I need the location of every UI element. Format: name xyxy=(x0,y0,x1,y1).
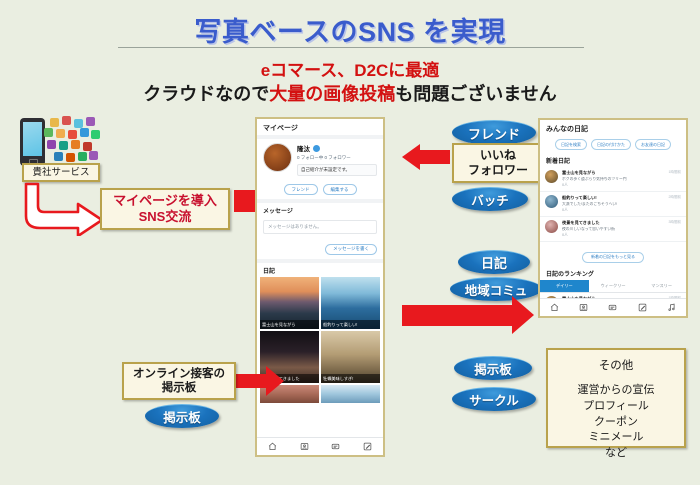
message-section-heading: メッセージ xyxy=(257,203,383,217)
tab-weekly[interactable]: ウィークリー xyxy=(589,280,638,292)
mypage-phone-mockup: マイページ 隆汰 0 フォロー中 0 フォロワー 自己紹介が未設定です。 フレン… xyxy=(255,117,385,457)
other-item: ミニメール xyxy=(548,430,684,446)
arrow-right-to-diary xyxy=(402,305,512,326)
list-item[interactable]: 夜景を見てきました夜の川しいなって思いやすい街0人 3時間前 xyxy=(540,217,686,242)
message-icon[interactable] xyxy=(608,303,617,312)
photo-cell[interactable] xyxy=(321,385,380,403)
callout-badge: バッチ xyxy=(452,187,528,211)
hook-arrow-icon xyxy=(22,182,108,236)
subtitle-primary: eコマース、D2Cに最適 xyxy=(0,56,700,81)
profile-name-row: 隆汰 xyxy=(297,143,377,153)
bottom-nav-bar xyxy=(540,298,686,316)
compose-icon[interactable] xyxy=(638,303,647,312)
likes-line2: フォロワー xyxy=(468,163,528,177)
subtitle-part-1: クラウドなので xyxy=(143,84,269,104)
mypage-intro-line2: SNS交流 xyxy=(139,209,192,224)
photo-caption: 富士山を見ながら xyxy=(260,320,319,329)
filter-pill[interactable]: お友達の日記 xyxy=(635,139,671,150)
ranking-heading: 日記のランキング xyxy=(540,266,686,280)
more-diary-row: 新着の日記をもっと見る xyxy=(540,242,686,266)
callout-bbs-left: 掲示板 xyxy=(145,404,219,428)
other-item: など xyxy=(548,446,684,462)
photo-cell[interactable]: 牡蠣美味しすぎ! xyxy=(321,331,380,383)
online-bbs-box: オンライン接客の掲示板 xyxy=(122,362,236,400)
person-icon[interactable] xyxy=(579,303,588,312)
tab-monthly[interactable]: マンスリー xyxy=(637,280,686,292)
likes-line1: いいね xyxy=(480,148,516,162)
bottom-nav-bar xyxy=(257,437,383,455)
arrow-left-to-bbs xyxy=(236,374,266,388)
tab-daily[interactable]: デイリー xyxy=(540,280,589,292)
other-item: 運営からの宣伝 xyxy=(548,383,684,399)
entry-meta: 0人 xyxy=(562,208,665,213)
edit-profile-button[interactable]: 編集する xyxy=(323,184,357,195)
home-icon[interactable] xyxy=(268,442,277,451)
profile-actions: フレンド 編集する xyxy=(257,184,383,195)
mypage-screen-title: マイページ xyxy=(257,119,383,135)
app-icons-cloud xyxy=(44,116,104,166)
subtitle-highlight: 大量の画像投稿 xyxy=(269,84,395,104)
bbs-line2: 掲示板 xyxy=(162,382,197,394)
write-message-button[interactable]: メッセージを書く xyxy=(325,244,377,255)
more-diary-button[interactable]: 新着の日記をもっと見る xyxy=(582,252,644,263)
compose-icon[interactable] xyxy=(363,442,372,451)
diary-screen-title: みんなの日記 xyxy=(540,120,686,136)
entry-body: ボクの歩く道ぶらり気持ちのツリー門 xyxy=(562,177,665,182)
bbs-line1: オンライン接客の xyxy=(133,368,225,380)
photo-caption: 牡蠣美味しすぎ! xyxy=(321,374,380,383)
entry-title: 富士山を見ながら xyxy=(562,170,665,176)
mypage-intro-line1: マイページを導入 xyxy=(113,193,217,208)
photo-cell[interactable]: 富士山を見ながら xyxy=(260,277,319,329)
subtitle-part-2: も問題ございません xyxy=(395,84,556,104)
diary-filter-pills: 日記を検索 日記の付けかた お友達の日記 xyxy=(540,136,686,153)
callout-friend: フレンド xyxy=(452,120,536,145)
entry-body: 大漁でした!またのごちそうへい! xyxy=(562,202,665,207)
profile-block: 隆汰 0 フォロー中 0 フォロワー 自己紹介が未設定です。 xyxy=(257,139,383,180)
message-write-row: メッセージを書く xyxy=(257,237,383,259)
entry-meta: 0人 xyxy=(562,233,665,238)
thumbnail xyxy=(545,195,558,208)
music-icon[interactable] xyxy=(667,303,676,312)
new-diary-heading: 新着日記 xyxy=(540,153,686,167)
message-empty-state: メッセージはありません。 xyxy=(263,220,377,234)
ranking-tabs: デイリー ウィークリー マンスリー xyxy=(540,280,686,293)
profile-bio: 自己紹介が未設定です。 xyxy=(297,164,377,176)
photo-cell[interactable]: 船釣りって楽しい! xyxy=(321,277,380,329)
profile-name: 隆汰 xyxy=(297,143,310,153)
home-icon[interactable] xyxy=(550,303,559,312)
entry-meta: 0人 xyxy=(562,183,665,188)
diary-section-heading: 日記 xyxy=(257,263,383,277)
photo-caption: 船釣りって楽しい! xyxy=(321,320,380,329)
list-item[interactable]: 船釣りって楽しい!大漁でした!またのごちそうへい!0人 2時間前 xyxy=(540,192,686,217)
friend-button[interactable]: フレンド xyxy=(284,184,318,195)
everyone-diary-phone-mockup: みんなの日記 日記を検索 日記の付けかた お友達の日記 新着日記 富士山を見なが… xyxy=(538,118,688,318)
other-item: プロフィール xyxy=(548,399,684,415)
list-item[interactable]: 富士山を見ながらボクの歩く道ぶらり気持ちのツリー門0人 1時間前 xyxy=(540,167,686,192)
callout-bbs: 掲示板 xyxy=(454,356,532,380)
mypage-intro-box: マイページを導入SNS交流 xyxy=(100,188,230,230)
other-heading: その他 xyxy=(548,358,684,375)
entry-title: 船釣りって楽しい! xyxy=(562,195,665,201)
callout-circle: サークル xyxy=(452,387,536,411)
subtitle-secondary: クラウドなので大量の画像投稿も問題ございません xyxy=(0,80,700,106)
filter-pill[interactable]: 日記を検索 xyxy=(555,139,587,150)
smartphone-illustration xyxy=(18,118,104,166)
thumbnail xyxy=(545,170,558,183)
follow-counts: 0 フォロー中 0 フォロワー xyxy=(297,155,377,161)
message-icon[interactable] xyxy=(331,442,340,451)
other-features-box: その他 運営からの宣伝 プロフィール クーポン ミニメール など xyxy=(546,348,686,448)
verified-badge-icon xyxy=(313,145,320,152)
header-divider xyxy=(118,47,584,48)
entry-time: 3時間前 xyxy=(669,220,681,225)
phone-screen xyxy=(23,122,42,156)
page-title: 写真ベースのSNS を実現 xyxy=(0,10,700,49)
service-label: 貴社サービス xyxy=(22,163,100,182)
avatar xyxy=(263,143,292,172)
entry-time: 2時間前 xyxy=(669,195,681,200)
other-item: クーポン xyxy=(548,415,684,431)
callout-likes-box: いいねフォロワー xyxy=(452,143,544,183)
arrow-left-to-mypage xyxy=(420,150,450,164)
callout-diary: 日記 xyxy=(458,250,530,274)
thumbnail xyxy=(545,220,558,233)
entry-time: 1時間前 xyxy=(669,170,681,175)
entry-body: 夜の川しいなって思いやすい街 xyxy=(562,227,665,232)
filter-pill[interactable]: 日記の付けかた xyxy=(591,139,631,150)
person-icon[interactable] xyxy=(300,442,309,451)
entry-title: 夜景を見てきました xyxy=(562,220,665,226)
